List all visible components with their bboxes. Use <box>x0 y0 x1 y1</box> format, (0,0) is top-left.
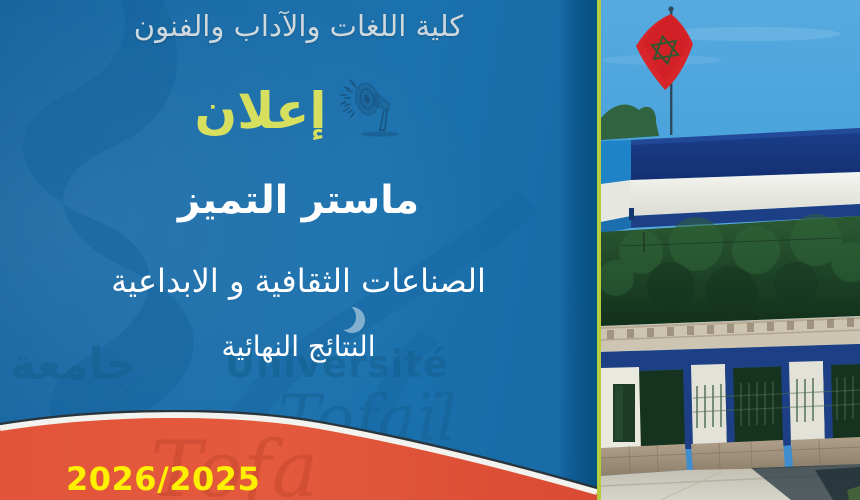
megaphone-icon <box>340 78 402 144</box>
program-name: الصناعات الثقافية و الابداعية <box>0 262 597 300</box>
orange-banner: Tofa 2026/2025 <box>0 410 597 500</box>
left-blue-panel: جامعة Université Tofaïl كلية اللغات والآ… <box>0 0 597 500</box>
campus-photo <box>601 0 860 500</box>
academic-year: 2026/2025 <box>66 460 260 498</box>
master-title: ماستر التميز <box>0 178 597 223</box>
announcement-poster: جامعة Université Tofaïl كلية اللغات والآ… <box>0 0 860 500</box>
announcement-label: إعلان <box>195 86 327 136</box>
campus-photo-illustration <box>601 0 860 500</box>
announcement-row: إعلان <box>0 78 597 144</box>
results-label: النتائج النهائية <box>0 330 597 363</box>
lime-divider <box>597 0 601 500</box>
faculty-name: كلية اللغات والآداب والفنون <box>0 8 597 44</box>
